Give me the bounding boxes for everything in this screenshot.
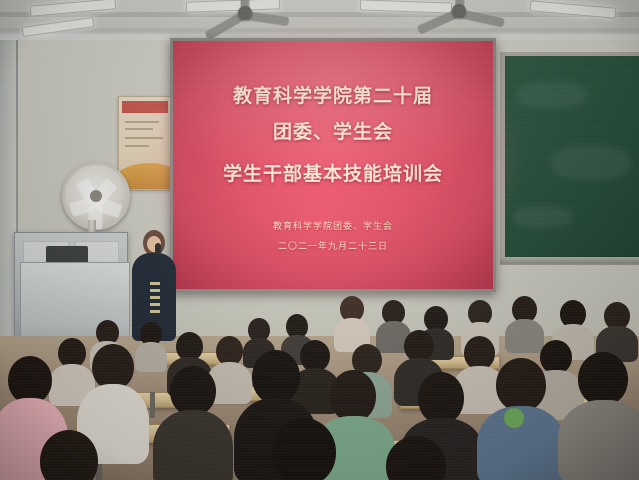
wall-mounted-fan [62, 162, 130, 230]
student-head [464, 336, 495, 370]
student-head [578, 352, 628, 406]
fan-hub [90, 190, 102, 202]
chalk-smudge [513, 206, 573, 228]
slide-surface: 教育科学学院第二十届 团委、学生会 学生干部基本技能培训会 教育科学学院团委、学… [173, 41, 493, 289]
slide-signature-date: 二〇二一年九月二十三日 [173, 239, 493, 252]
student-head [496, 358, 546, 412]
student-head [252, 350, 300, 404]
blackboard [500, 52, 639, 265]
poster-text-line [125, 128, 153, 130]
hair-accessory [504, 408, 524, 428]
photo-scene: 教育科学学院第二十届 团委、学生会 学生干部基本技能培训会 教育科学学院团委、学… [0, 0, 639, 480]
student-head [8, 356, 52, 404]
student-head [272, 418, 336, 480]
student-head [540, 340, 572, 374]
fan-hub [238, 6, 252, 20]
slide-signature-org: 教育科学学院团委、学生会 [173, 219, 493, 232]
board-tray [500, 257, 639, 264]
slide-title-line2: 团委、学生会 [173, 117, 493, 144]
wall-poster [118, 96, 172, 190]
presenter-shirt-pattern [150, 282, 160, 316]
fan-hub [452, 4, 466, 18]
poster-text-line [125, 137, 163, 139]
student-body [135, 342, 167, 372]
poster-banner [122, 101, 168, 113]
student-body [153, 410, 233, 480]
ceiling-beam [0, 12, 639, 17]
student-body [505, 319, 544, 353]
slide-title-line3: 学生干部基本技能培训会 [173, 159, 493, 186]
poster-text-line [125, 145, 149, 147]
student-head [418, 372, 464, 424]
ceiling-beam [0, 28, 639, 32]
student-head [170, 366, 216, 416]
slide-title-line1: 教育科学学院第二十届 [173, 81, 493, 108]
microphone [155, 243, 161, 254]
projection-screen: 教育科学学院第二十届 团委、学生会 学生干部基本技能培训会 教育科学学院团委、学… [170, 38, 496, 292]
chalk-smudge [551, 146, 631, 180]
desk-leg [150, 392, 155, 418]
student-body [558, 400, 639, 480]
poster-text-line [125, 121, 159, 123]
chalk-smudge [517, 82, 587, 108]
student-head [330, 370, 376, 422]
